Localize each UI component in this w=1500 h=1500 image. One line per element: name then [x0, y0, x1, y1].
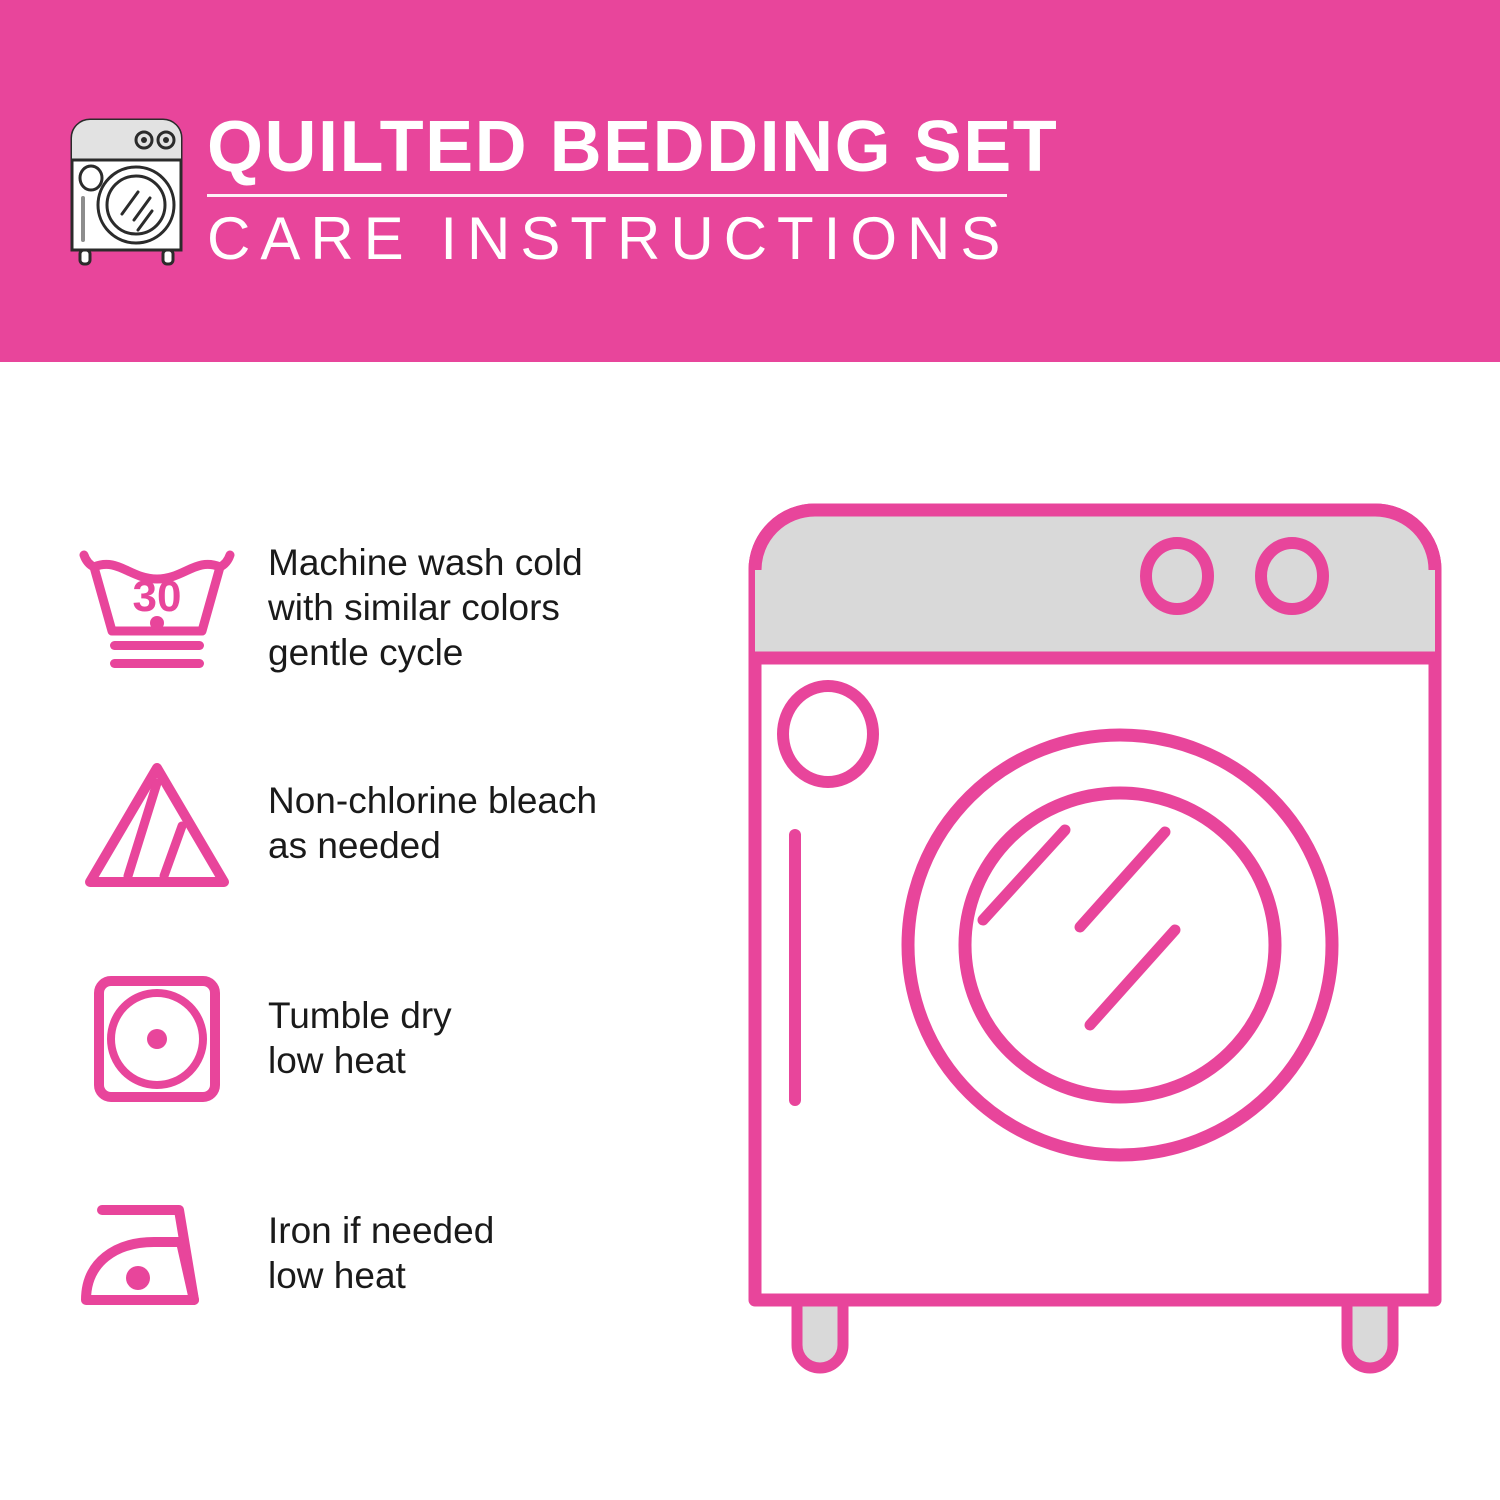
care-instruction-item-wash: 30 Machine wash cold with similar colors… [62, 500, 702, 715]
washing-machine-icon [64, 110, 189, 270]
care-text-line: Machine wash cold [268, 540, 702, 585]
wash-temperature-value: 30 [133, 572, 182, 621]
front-load-washing-machine-illustration [735, 490, 1455, 1420]
care-text-line: low heat [268, 1253, 702, 1298]
page-subtitle: CARE INSTRUCTIONS [207, 207, 1058, 271]
washer-control-panel [755, 510, 1435, 658]
care-instruction-label-iron: Iron if needed low heat [252, 1208, 702, 1298]
care-text-line: low heat [268, 1038, 702, 1083]
header-divider [207, 194, 1007, 197]
iron-low-heat-icon [62, 1180, 252, 1325]
care-instruction-item-iron: Iron if needed low heat [62, 1145, 702, 1360]
header-inner: QUILTED BEDDING SET CARE INSTRUCTIONS [64, 100, 1058, 271]
page-title: QUILTED BEDDING SET [207, 106, 1058, 188]
tumble-dry-low-icon [62, 965, 252, 1110]
care-instruction-item-bleach: Non-chlorine bleach as needed [62, 715, 702, 930]
washer-indicator-light [783, 686, 873, 782]
care-text-line: with similar colors [268, 585, 702, 630]
care-instruction-item-tumble-dry: Tumble dry low heat [62, 930, 702, 1145]
washer-door-inner-ring [965, 793, 1275, 1097]
header-text-block: QUILTED BEDDING SET CARE INSTRUCTIONS [207, 100, 1058, 271]
care-text-line: gentle cycle [268, 630, 702, 675]
washer-knob-left [1146, 543, 1208, 609]
washer-knob-right [1261, 543, 1323, 609]
care-instruction-list: 30 Machine wash cold with similar colors… [62, 500, 702, 1360]
care-text-line: Tumble dry [268, 993, 702, 1038]
header-band: QUILTED BEDDING SET CARE INSTRUCTIONS [0, 0, 1500, 362]
non-chlorine-bleach-triangle-icon [62, 750, 252, 895]
care-instruction-label-bleach: Non-chlorine bleach as needed [252, 778, 702, 868]
care-instruction-label-tumble-dry: Tumble dry low heat [252, 993, 702, 1083]
wash-tub-30-gentle-icon: 30 [62, 535, 252, 680]
care-text-line: as needed [268, 823, 702, 868]
care-instruction-label-wash: Machine wash cold with similar colors ge… [252, 540, 702, 675]
care-text-line: Iron if needed [268, 1208, 702, 1253]
care-text-line: Non-chlorine bleach [268, 778, 702, 823]
